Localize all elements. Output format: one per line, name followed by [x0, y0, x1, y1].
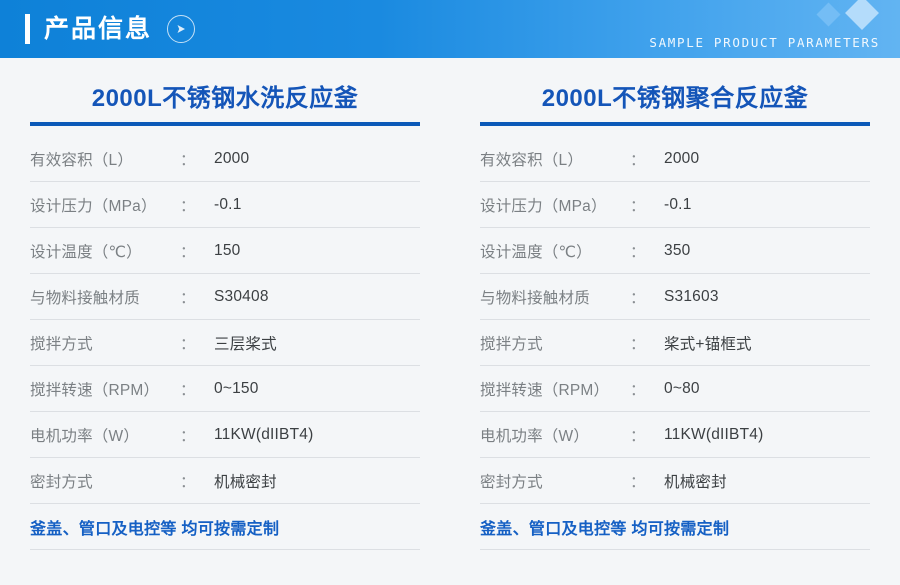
- spec-colon: ：: [180, 332, 214, 354]
- spec-row: 设计温度（℃） ： 150: [30, 228, 420, 274]
- spec-row: 与物料接触材质 ： S30408: [30, 274, 420, 320]
- spec-colon: ：: [630, 240, 664, 262]
- header-title-group: 产品信息: [25, 0, 195, 58]
- header-subtitle: SAMPLE PRODUCT PARAMETERS: [649, 35, 880, 50]
- spec-value: 三层桨式: [214, 332, 277, 354]
- spec-value: 350: [664, 242, 690, 260]
- spec-value: 2000: [214, 150, 249, 168]
- spec-label: 密封方式: [30, 470, 180, 492]
- customization-note: 釜盖、管口及电控等 均可按需定制: [480, 515, 729, 539]
- spec-row: 与物料接触材质 ： S31603: [480, 274, 870, 320]
- spec-colon: ：: [630, 194, 664, 216]
- spec-value: S31603: [664, 288, 719, 306]
- spec-row: 搅拌方式 ： 三层桨式: [30, 320, 420, 366]
- spec-label: 设计压力（MPa）: [480, 194, 630, 216]
- spec-value: -0.1: [664, 196, 692, 214]
- play-arrow-icon[interactable]: [167, 15, 195, 43]
- spec-value: 0~150: [214, 380, 259, 398]
- spec-row: 设计压力（MPa） ： -0.1: [480, 182, 870, 228]
- header-accent-bar: [25, 14, 30, 44]
- spec-label: 搅拌方式: [480, 332, 630, 354]
- spec-colon: ：: [630, 148, 664, 170]
- spec-label: 电机功率（W）: [480, 424, 630, 446]
- spec-label: 与物料接触材质: [480, 286, 630, 308]
- page-title: 产品信息: [44, 17, 152, 42]
- spec-label: 搅拌转速（RPM）: [480, 378, 630, 400]
- spec-colon: ：: [180, 286, 214, 308]
- spec-label: 密封方式: [480, 470, 630, 492]
- spec-label: 与物料接触材质: [30, 286, 180, 308]
- spec-row: 搅拌转速（RPM） ： 0~150: [30, 366, 420, 412]
- spec-row: 密封方式 ： 机械密封: [30, 458, 420, 504]
- spec-colon: ：: [180, 240, 214, 262]
- diamond-small-icon: [816, 2, 840, 26]
- spec-value: 11KW(dIIBT4): [664, 426, 763, 444]
- spec-card-left: 2000L不锈钢水洗反应釜 有效容积（L） ： 2000 设计压力（MPa） ：…: [0, 58, 450, 550]
- spec-colon: ：: [630, 332, 664, 354]
- spec-colon: ：: [180, 194, 214, 216]
- spec-colon: ：: [630, 286, 664, 308]
- spec-row: 设计压力（MPa） ： -0.1: [30, 182, 420, 228]
- spec-colon: ：: [180, 424, 214, 446]
- spec-value: -0.1: [214, 196, 242, 214]
- spec-colon: ：: [180, 470, 214, 492]
- spec-cards-container: 2000L不锈钢水洗反应釜 有效容积（L） ： 2000 设计压力（MPa） ：…: [0, 58, 900, 550]
- spec-row: 搅拌方式 ： 桨式+锚框式: [480, 320, 870, 366]
- spec-value: 机械密封: [214, 470, 277, 492]
- diamond-large-icon: [845, 0, 879, 30]
- spec-row: 搅拌转速（RPM） ： 0~80: [480, 366, 870, 412]
- spec-label: 设计温度（℃）: [30, 240, 180, 262]
- spec-row: 密封方式 ： 机械密封: [480, 458, 870, 504]
- spec-label: 有效容积（L）: [30, 148, 180, 170]
- spec-label: 设计温度（℃）: [480, 240, 630, 262]
- spec-value: 150: [214, 242, 240, 260]
- spec-row: 有效容积（L） ： 2000: [30, 136, 420, 182]
- spec-colon: ：: [630, 470, 664, 492]
- spec-card-right: 2000L不锈钢聚合反应釜 有效容积（L） ： 2000 设计压力（MPa） ：…: [450, 58, 900, 550]
- spec-value: 2000: [664, 150, 699, 168]
- spec-label: 有效容积（L）: [480, 148, 630, 170]
- spec-colon: ：: [180, 378, 214, 400]
- card-title-rule-right: [480, 122, 870, 126]
- spec-value: S30408: [214, 288, 269, 306]
- customization-note: 釜盖、管口及电控等 均可按需定制: [30, 515, 279, 539]
- spec-label: 搅拌转速（RPM）: [30, 378, 180, 400]
- customization-note-row: 釜盖、管口及电控等 均可按需定制: [30, 504, 420, 550]
- spec-value: 机械密封: [664, 470, 727, 492]
- spec-value: 0~80: [664, 380, 700, 398]
- spec-row: 设计温度（℃） ： 350: [480, 228, 870, 274]
- spec-value: 桨式+锚框式: [664, 332, 752, 354]
- customization-note-row: 釜盖、管口及电控等 均可按需定制: [480, 504, 870, 550]
- spec-label: 搅拌方式: [30, 332, 180, 354]
- spec-label: 设计压力（MPa）: [30, 194, 180, 216]
- spec-row: 电机功率（W） ： 11KW(dIIBT4): [480, 412, 870, 458]
- spec-colon: ：: [630, 424, 664, 446]
- spec-row: 有效容积（L） ： 2000: [480, 136, 870, 182]
- header-right-group: SAMPLE PRODUCT PARAMETERS: [520, 0, 880, 58]
- spec-label: 电机功率（W）: [30, 424, 180, 446]
- card-title-rule-left: [30, 122, 420, 126]
- spec-row: 电机功率（W） ： 11KW(dIIBT4): [30, 412, 420, 458]
- spec-colon: ：: [180, 148, 214, 170]
- spec-colon: ：: [630, 378, 664, 400]
- card-title-left: 2000L不锈钢水洗反应釜: [30, 86, 420, 122]
- spec-value: 11KW(dIIBT4): [214, 426, 313, 444]
- page-header: 产品信息 SAMPLE PRODUCT PARAMETERS: [0, 0, 900, 58]
- card-title-right: 2000L不锈钢聚合反应釜: [480, 86, 870, 122]
